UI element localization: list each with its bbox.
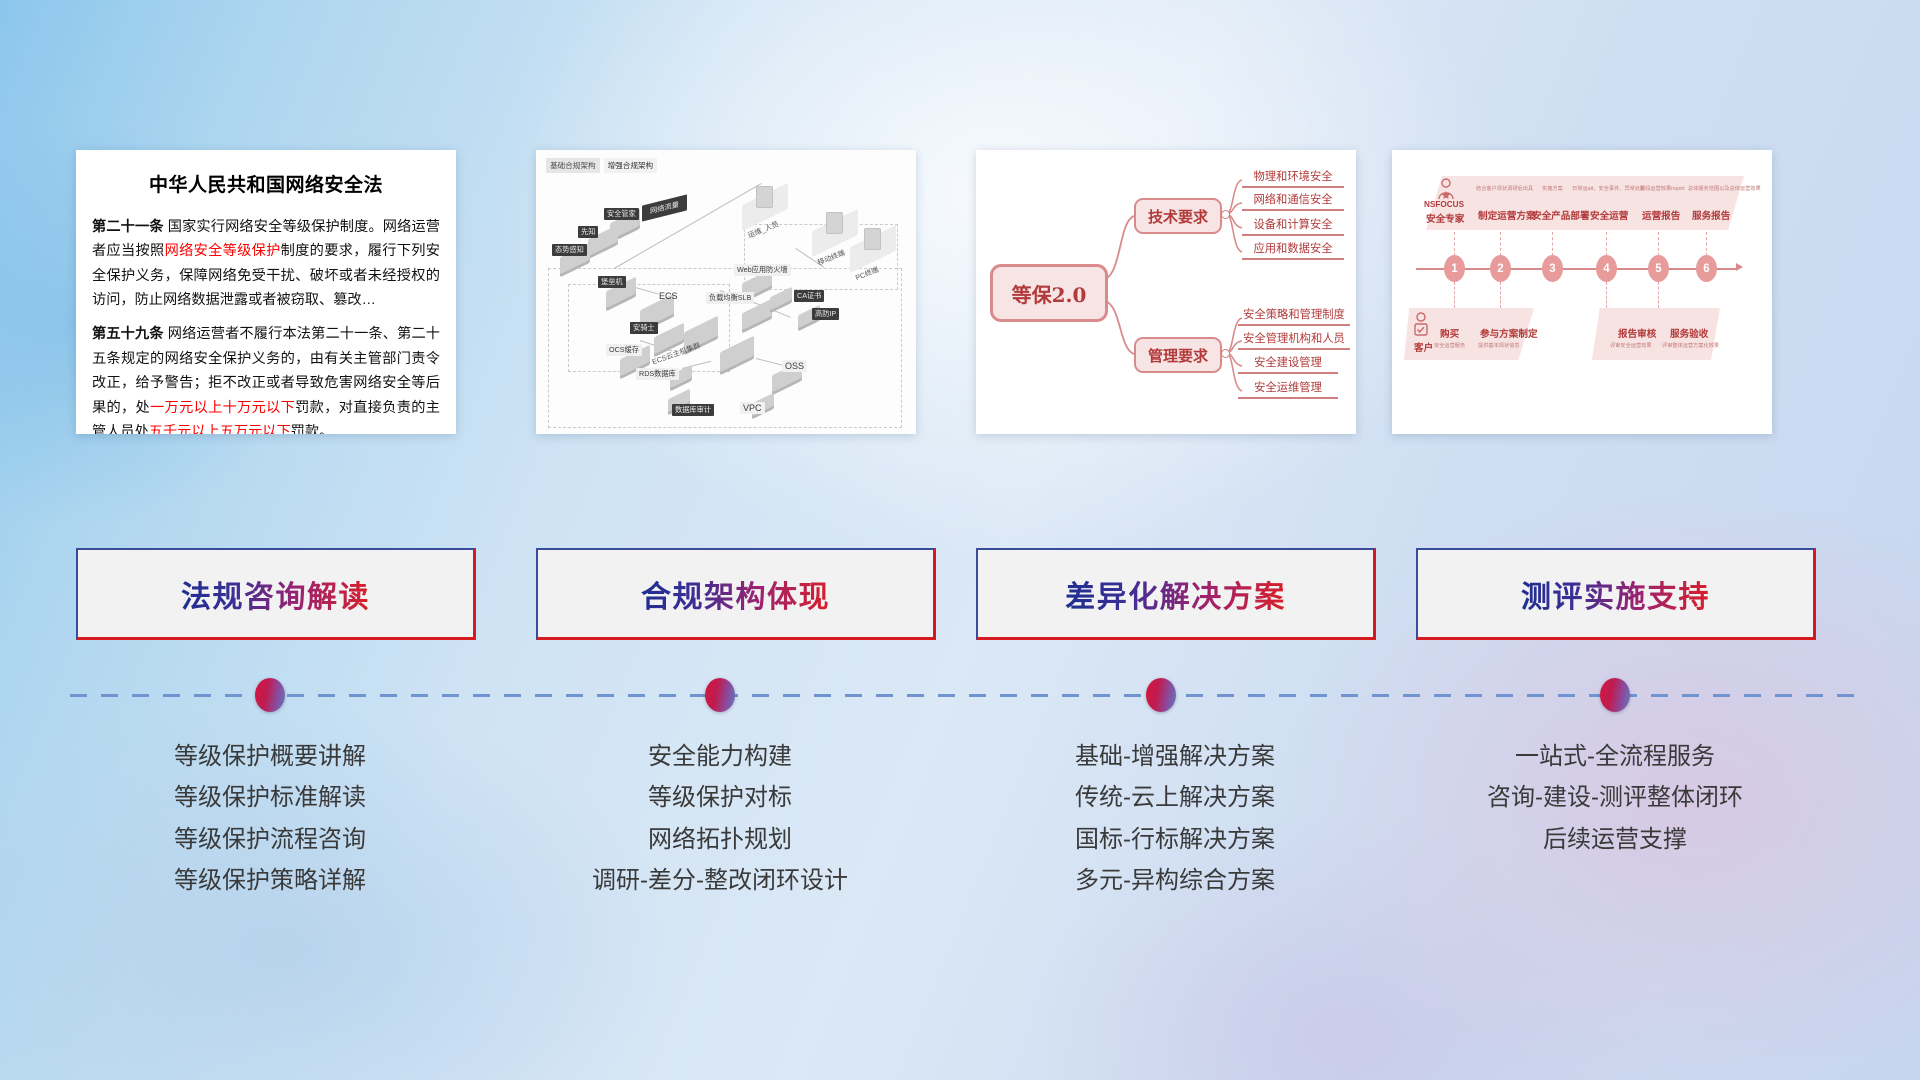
label-ecs: ECS — [656, 290, 681, 302]
connector-4 — [1606, 232, 1608, 256]
law-article-59-number: 第五十九条 — [92, 326, 164, 342]
label-anti-ddos-ip: 高防IP — [812, 308, 839, 320]
expert-title-4: 运营报告 — [1642, 208, 1680, 222]
label-box-compliance-architecture[interactable]: 合规架构体现 — [536, 548, 936, 640]
detail-item: 传统-云上解决方案 — [955, 777, 1395, 818]
connector-2 — [1500, 232, 1502, 256]
label-rds-database: RDS数据库 — [636, 368, 679, 380]
label-box-regulation-consulting[interactable]: 法规咨询解读 — [76, 548, 476, 640]
label-waf: Web应用防火墙 — [734, 264, 791, 276]
expert-sub-2: 实施方案 — [1542, 185, 1563, 192]
connector-c1 — [1454, 282, 1456, 308]
label-db-audit: 数据库审计 — [672, 404, 714, 416]
customer-title-3: 报告审核 — [1618, 326, 1656, 340]
customer-sub-2: 提供基本现状信息 — [1478, 342, 1520, 349]
rail-dot-1 — [255, 678, 285, 712]
detail-columns-row: 等级保护概要讲解 等级保护标准解读 等级保护流程咨询 等级保护策略详解 安全能力… — [0, 736, 1920, 1036]
label-bastion-host: 堡垒机 — [598, 276, 626, 288]
detail-item: 等级保护标准解读 — [50, 777, 490, 818]
detail-item: 等级保护流程咨询 — [50, 819, 490, 860]
connector-3 — [1552, 232, 1554, 256]
expert-title-3: 安全运营 — [1590, 208, 1628, 222]
timeline-diagram: NSFOCUS 安全专家 结合客户现状调研后出具 制定运营方案 实施方案 安全产… — [1392, 150, 1772, 434]
label-box-differentiated-solution[interactable]: 差异化解决方案 — [976, 548, 1376, 640]
cards-row: 中华人民共和国网络安全法 第二十一条 国家实行网络安全等级保护制度。网络运营者应… — [0, 150, 1920, 440]
mindmap-leaf-application: 应用和数据安全 — [1242, 240, 1344, 260]
expert-sub-1: 结合客户现状调研后出具 — [1476, 185, 1533, 192]
detail-item: 等级保护概要讲解 — [50, 736, 490, 777]
card-architecture[interactable]: 基础合规架构 增强合规架构 — [536, 150, 916, 434]
law-title: 中华人民共和国网络安全法 — [92, 170, 440, 203]
mindmap-root-node[interactable]: 等保2.0 — [990, 264, 1108, 322]
law-article-59: 第五十九条 网络运营者不履行本法第二十一条、第二十五条规定的网络安全保护义务的，… — [92, 322, 440, 434]
timeline-rail-dashed-line — [70, 694, 1860, 697]
mindmap-diagram: 等保2.0 技术要求 管理要求 物理和环境安全 网络和通信安全 设备和计算安全 … — [976, 150, 1356, 434]
mindmap-leaf-physical: 物理和环境安全 — [1242, 168, 1344, 188]
law-article-59-run-4: 罚款。 — [291, 424, 334, 434]
card-law[interactable]: 中华人民共和国网络安全法 第二十一条 国家实行网络安全等级保护制度。网络运营者应… — [76, 150, 456, 434]
customer-sub-3: 评审安全运营效果 — [1610, 342, 1652, 349]
expert-sub-3: 日常运att、安全事件、异常处置 — [1572, 185, 1645, 192]
timeline-arrow-icon — [1736, 263, 1743, 271]
node-server-ops — [756, 186, 773, 208]
mindmap-collapse-icon-technical[interactable] — [1221, 210, 1230, 219]
mindmap-leaf-network: 网络和通信安全 — [1242, 191, 1344, 211]
detail-item: 等级保护对标 — [500, 777, 940, 818]
customer-person-icon — [1412, 312, 1430, 338]
law-article-59-highlight-1: 一万元以上十万元以下 — [150, 400, 295, 416]
mindmap-leaf-operations: 安全运维管理 — [1238, 379, 1338, 399]
customer-title-4: 服务验收 — [1670, 326, 1708, 340]
timeline-step-1[interactable]: 1 — [1444, 255, 1465, 282]
connector-c4 — [1658, 282, 1660, 308]
card-timeline[interactable]: NSFOCUS 安全专家 结合客户现状调研后出具 制定运营方案 实施方案 安全产… — [1392, 150, 1772, 434]
expert-role-title: 安全专家 — [1426, 211, 1464, 225]
customer-sub-1: 安全运营服务 — [1434, 342, 1465, 349]
connector-c3 — [1606, 282, 1608, 308]
detail-item: 咨询-建设-测评整体闭环 — [1395, 777, 1835, 818]
detail-column-2: 安全能力构建 等级保护对标 网络拓扑规划 调研-差分-整改闭环设计 — [500, 736, 940, 901]
detail-column-4: 一站式-全流程服务 咨询-建设-测评整体闭环 后续运营支撑 — [1395, 736, 1835, 860]
detail-item: 一站式-全流程服务 — [1395, 736, 1835, 777]
label-boxes-row: 法规咨询解读 合规架构体现 差异化解决方案 测评实施支持 — [0, 548, 1920, 644]
label-text-regulation-consulting: 法规咨询解读 — [181, 572, 370, 616]
label-ca-cert: CA证书 — [794, 290, 824, 302]
label-security-butler: 安全管家 — [604, 208, 639, 220]
customer-title-1: 购买 — [1440, 326, 1459, 340]
expert-title-1: 制定运营方案 — [1478, 208, 1536, 222]
card-mindmap[interactable]: 等保2.0 技术要求 管理要求 物理和环境安全 网络和通信安全 设备和计算安全 … — [976, 150, 1356, 434]
connector-6 — [1706, 232, 1708, 256]
mindmap-leaf-construction: 安全建设管理 — [1238, 354, 1338, 374]
label-text-differentiated-solution: 差异化解决方案 — [1065, 572, 1286, 616]
timeline-step-2[interactable]: 2 — [1490, 255, 1511, 282]
label-situational-awareness: 态势感知 — [552, 244, 587, 256]
customer-role-title: 客户 — [1414, 340, 1433, 354]
law-article-21: 第二十一条 国家实行网络安全等级保护制度。网络运营者应当按照网络安全等级保护制度… — [92, 215, 440, 313]
law-article-21-number: 第二十一条 — [92, 219, 164, 235]
label-slb: 负载均衡SLB — [706, 292, 754, 304]
connector-1 — [1454, 232, 1456, 256]
law-document: 中华人民共和国网络安全法 第二十一条 国家实行网络安全等级保护制度。网络运营者应… — [76, 150, 456, 434]
detail-item: 基础-增强解决方案 — [955, 736, 1395, 777]
detail-column-3: 基础-增强解决方案 传统-云上解决方案 国标-行标解决方案 多元-异构综合方案 — [955, 736, 1395, 901]
expert-person-icon — [1436, 178, 1456, 200]
expert-title-2: 安全产品部署 — [1532, 208, 1590, 222]
customer-title-2: 参与方案制定 — [1480, 326, 1538, 340]
detail-item: 等级保护策略详解 — [50, 860, 490, 901]
node-server-pc — [864, 228, 881, 250]
expert-role-brand: NSFOCUS — [1424, 200, 1464, 209]
expert-sub-4: 阶段运营效果report — [1640, 185, 1685, 192]
label-network-traffic: 网络流量 — [642, 194, 687, 221]
label-oss: OSS — [782, 360, 807, 372]
detail-item: 多元-异构综合方案 — [955, 860, 1395, 901]
law-article-21-highlight: 网络安全等级保护 — [165, 243, 281, 259]
label-xianzhi: 先知 — [578, 226, 598, 238]
label-box-assessment-support[interactable]: 测评实施支持 — [1416, 548, 1816, 640]
mindmap-branch-management[interactable]: 管理要求 — [1134, 337, 1222, 373]
timeline-step-4[interactable]: 4 — [1596, 255, 1617, 282]
detail-item: 调研-差分-整改闭环设计 — [500, 860, 940, 901]
mindmap-leaf-org: 安全管理机构和人员 — [1238, 330, 1350, 350]
expert-sub-5: 总体服务范围以及总体运营效果 — [1688, 185, 1761, 192]
timeline-step-6[interactable]: 6 — [1696, 255, 1717, 282]
mindmap-leaf-device: 设备和计算安全 — [1242, 216, 1344, 236]
mindmap-leaf-policy: 安全策略和管理制度 — [1238, 306, 1350, 326]
label-ocs-cache: OCS缓存 — [606, 344, 642, 356]
mindmap-collapse-icon-management[interactable] — [1221, 349, 1230, 358]
timeline-step-3[interactable]: 3 — [1542, 255, 1563, 282]
connector-5 — [1658, 232, 1660, 256]
detail-item: 国标-行标解决方案 — [955, 819, 1395, 860]
slide-root: 中华人民共和国网络安全法 第二十一条 国家实行网络安全等级保护制度。网络运营者应… — [0, 0, 1920, 1080]
customer-sub-4: 评审整体运营方案化效果 — [1662, 342, 1719, 349]
node-server-mobile — [826, 212, 843, 234]
tab-enhanced-architecture[interactable]: 增强合规架构 — [604, 158, 658, 173]
label-text-assessment-support: 测评实施支持 — [1521, 572, 1710, 616]
label-anqishi: 安骑士 — [630, 322, 658, 334]
mindmap-branch-technical[interactable]: 技术要求 — [1134, 198, 1222, 234]
connector-c2 — [1500, 282, 1502, 308]
rail-dot-3 — [1146, 678, 1176, 712]
detail-item: 安全能力构建 — [500, 736, 940, 777]
timeline-step-5[interactable]: 5 — [1648, 255, 1669, 282]
detail-column-1: 等级保护概要讲解 等级保护标准解读 等级保护流程咨询 等级保护策略详解 — [50, 736, 490, 901]
architecture-canvas: 网络流量 安全管家 先知 态势感知 堡垒机 运维_人员 移动终端 PC终端 We… — [544, 172, 908, 426]
rail-dot-4 — [1600, 678, 1630, 712]
architecture-diagram: 基础合规架构 增强合规架构 — [536, 150, 916, 434]
architecture-tabs[interactable]: 基础合规架构 增强合规架构 — [546, 158, 657, 173]
label-text-compliance-architecture: 合规架构体现 — [641, 572, 830, 616]
detail-item: 网络拓扑规划 — [500, 819, 940, 860]
tab-basic-architecture[interactable]: 基础合规架构 — [546, 158, 600, 173]
detail-item: 后续运营支撑 — [1395, 819, 1835, 860]
expert-title-5: 服务报告 — [1692, 208, 1730, 222]
law-article-59-highlight-2: 五千元以上五万元以下 — [149, 424, 291, 434]
label-vpc: VPC — [740, 402, 765, 414]
rail-dot-2 — [705, 678, 735, 712]
